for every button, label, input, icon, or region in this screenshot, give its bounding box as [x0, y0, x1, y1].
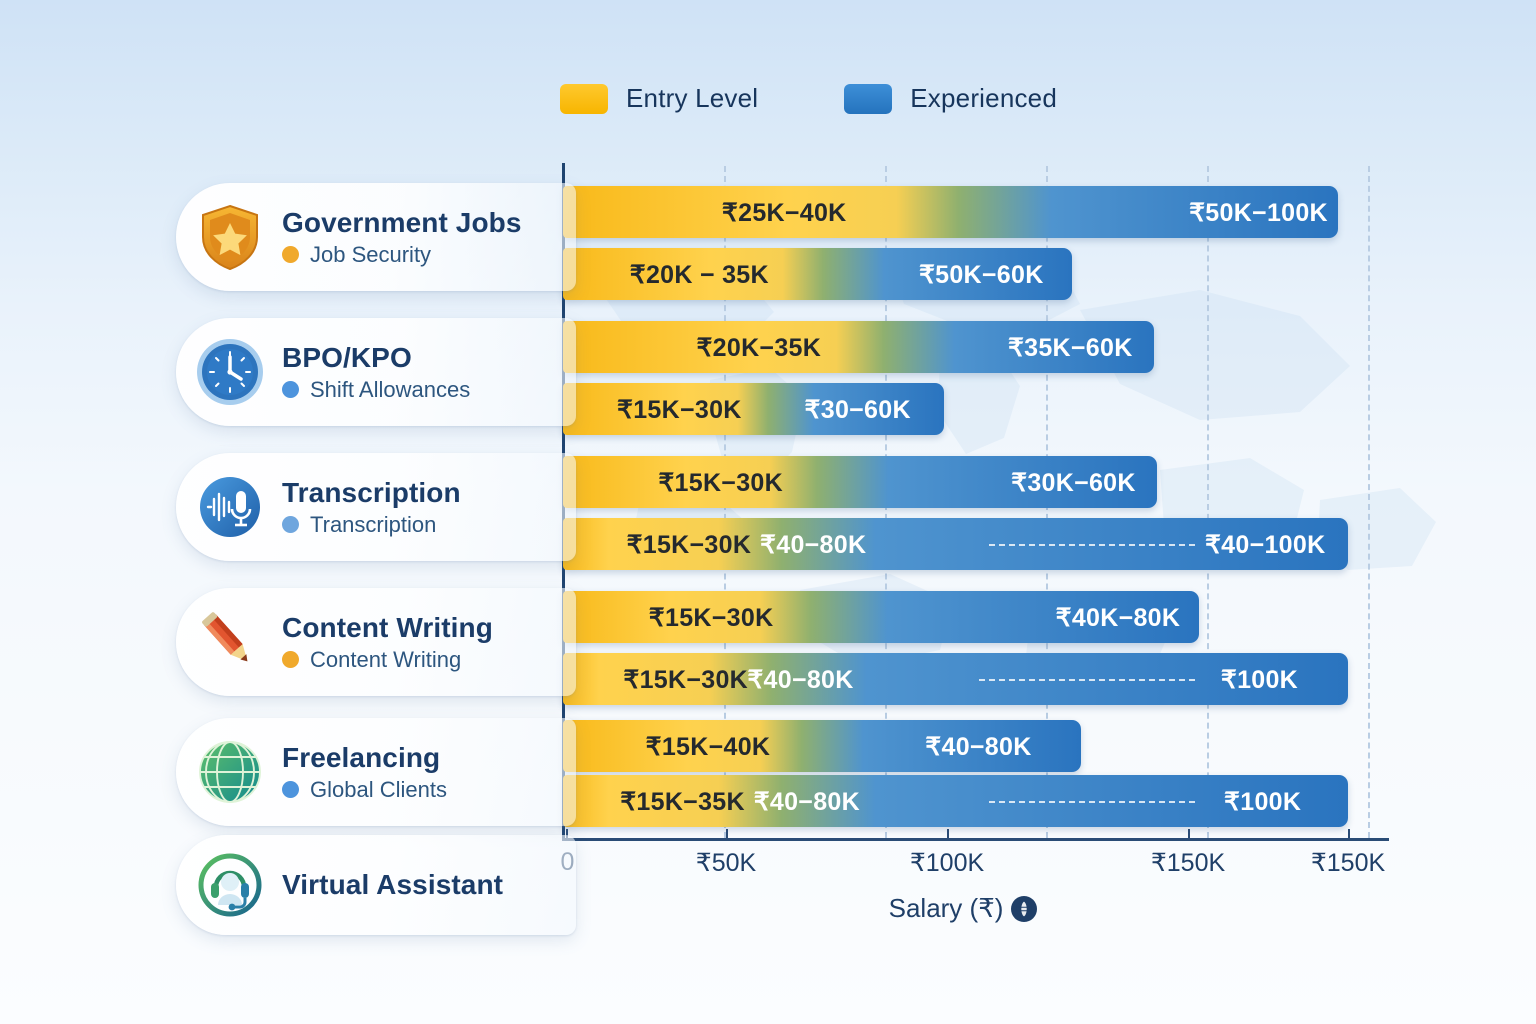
bar-value-label: ₹100K [1224, 787, 1301, 817]
bar-value-label: ₹40−80K [747, 665, 853, 695]
bar-value-label: ₹40−80K [925, 732, 1031, 762]
category-title: Virtual Assistant [282, 869, 503, 901]
clock-icon [194, 336, 266, 408]
category-text: FreelancingGlobal Clients [282, 742, 447, 803]
bar-value-label: ₹15K−30K [627, 530, 752, 560]
category-title: Freelancing [282, 742, 447, 774]
bar-value-label: ₹40K−80K [1056, 603, 1181, 633]
category-subtitle: Global Clients [310, 777, 447, 803]
category-subtitle-row: Content Writing [282, 647, 493, 673]
category-title: Content Writing [282, 612, 493, 644]
bar-connector-dashed-line [989, 544, 1196, 546]
bar-value-label: ₹40−100K [1205, 530, 1325, 560]
globe-badge-icon [1011, 896, 1037, 922]
microphone-wave-icon [194, 471, 266, 543]
globe-icon [194, 736, 266, 808]
x-axis-tick-mark [1188, 829, 1190, 839]
bar-value-label: ₹40−80K [760, 530, 866, 560]
category-text: Virtual Assistant [282, 869, 503, 901]
shield-star-icon [194, 201, 266, 273]
x-axis-line [562, 838, 1389, 841]
x-axis-tick-label: ₹100K [910, 848, 984, 878]
x-axis-tick-mark [726, 829, 728, 839]
bullet-dot-icon [282, 246, 299, 263]
category-card-government-jobs[interactable]: Government JobsJob Security [176, 183, 576, 291]
category-subtitle: Job Security [310, 242, 431, 268]
category-card-virtual-assistant[interactable]: Virtual Assistant [176, 835, 576, 935]
category-title: Transcription [282, 477, 461, 509]
category-subtitle: Content Writing [310, 647, 461, 673]
bar-value-label: ₹20K − 35K [630, 260, 769, 290]
category-subtitle: Shift Allowances [310, 377, 470, 403]
bar-value-label: ₹15K−40K [646, 732, 771, 762]
category-card-transcription[interactable]: TranscriptionTranscription [176, 453, 576, 561]
x-axis-tick-mark [947, 829, 949, 839]
category-subtitle-row: Global Clients [282, 777, 447, 803]
category-card-content-writing[interactable]: Content WritingContent Writing [176, 588, 576, 696]
x-axis-tick-label: ₹150K [1311, 848, 1385, 878]
category-text: BPO/KPOShift Allowances [282, 342, 470, 403]
bar-value-label: ₹50K−60K [919, 260, 1044, 290]
bar-value-label: ₹100K [1221, 665, 1298, 695]
category-card-bpo-kpo[interactable]: BPO/KPOShift Allowances [176, 318, 576, 426]
bullet-dot-icon [282, 781, 299, 798]
bar-connector-dashed-line [989, 801, 1196, 803]
bar-value-label: ₹15K−30K [623, 665, 748, 695]
bar-value-label: ₹30K−60K [1011, 468, 1136, 498]
category-text: Content WritingContent Writing [282, 612, 493, 673]
x-axis-title-text: Salary (₹) [889, 893, 1004, 924]
bar-value-label: ₹20K−35K [696, 333, 821, 363]
bar-value-label: ₹15K−30K [617, 395, 742, 425]
bar-value-label: ₹35K−60K [1008, 333, 1133, 363]
bullet-dot-icon [282, 381, 299, 398]
gridline [1368, 166, 1370, 838]
x-axis-tick-label: ₹50K [696, 848, 756, 878]
category-subtitle-row: Shift Allowances [282, 377, 470, 403]
headset-icon [194, 849, 266, 921]
bullet-dot-icon [282, 651, 299, 668]
category-card-freelancing[interactable]: FreelancingGlobal Clients [176, 718, 576, 826]
bar-value-label: ₹40−80K [754, 787, 860, 817]
category-subtitle: Transcription [310, 512, 436, 538]
category-subtitle-row: Job Security [282, 242, 522, 268]
category-subtitle-row: Transcription [282, 512, 461, 538]
category-title: BPO/KPO [282, 342, 470, 374]
category-text: Government JobsJob Security [282, 207, 522, 268]
bar-value-label: ₹15K−30K [658, 468, 783, 498]
bar-connector-dashed-line [979, 679, 1195, 681]
bar-value-label: ₹50K−100K [1189, 198, 1328, 228]
bullet-dot-icon [282, 516, 299, 533]
category-text: TranscriptionTranscription [282, 477, 461, 538]
gridline [1207, 166, 1209, 838]
x-axis-tick-mark [1348, 829, 1350, 839]
bar-value-label: ₹15K−30K [649, 603, 774, 633]
bar-value-label: ₹15K−35K [620, 787, 745, 817]
x-axis-tick-label: ₹150K [1151, 848, 1225, 878]
bar-value-label: ₹30−60K [805, 395, 911, 425]
category-title: Government Jobs [282, 207, 522, 239]
pencil-icon [194, 606, 266, 678]
bar-value-label: ₹25K−40K [722, 198, 847, 228]
